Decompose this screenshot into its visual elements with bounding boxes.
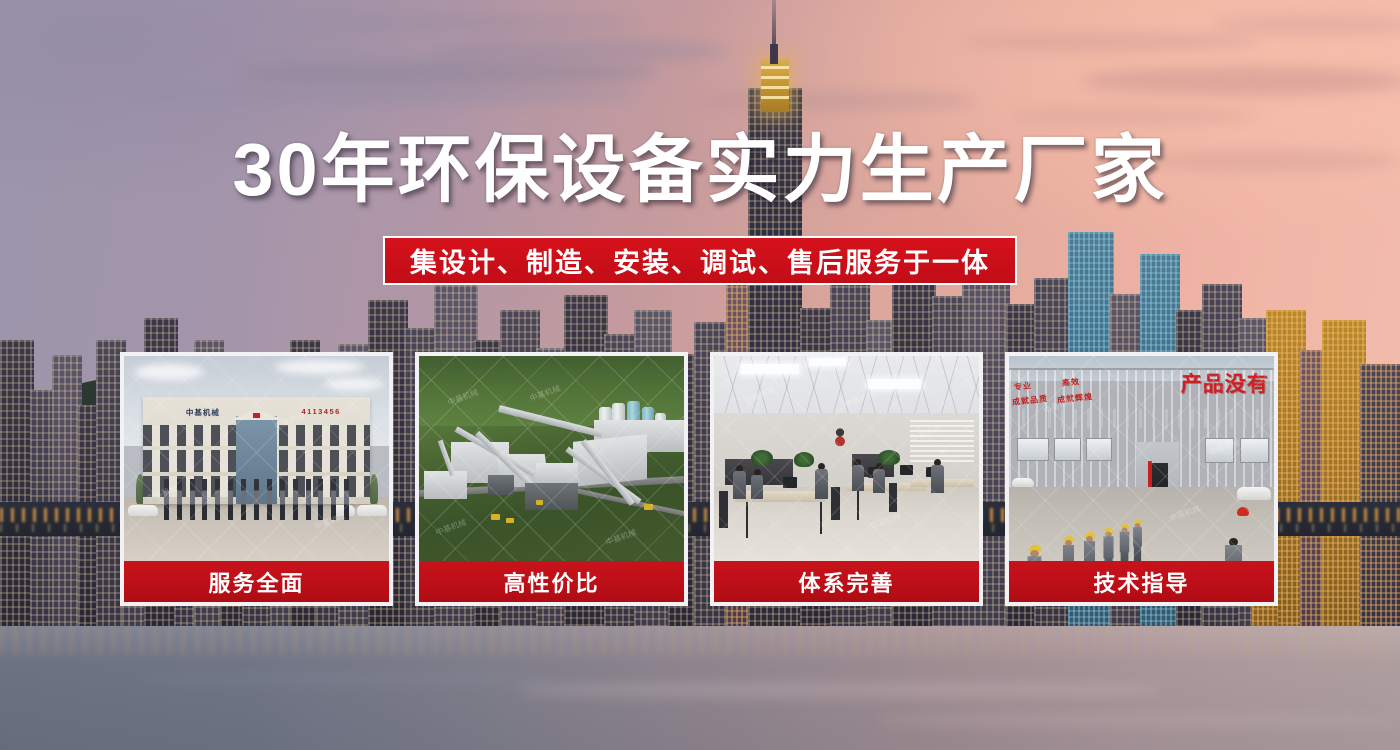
water-streak (520, 682, 1160, 698)
workers-training-photo: 产品没有 专业 成就品质 高效 成就辉煌 (1009, 356, 1274, 561)
subtitle-text: 集设计、制造、安装、调试、售后服务于一体 (410, 241, 990, 280)
banner-headline: 30年环保设备实力生产厂家 (0, 133, 1400, 207)
card-label-text: 高性价比 (503, 566, 599, 598)
card-label-text: 体系完善 (798, 566, 894, 598)
card-label: 服务全面 (124, 561, 389, 602)
water-streak (880, 714, 1400, 726)
feature-card-row: 中基机械 4113456 中基机械 中基机械 中基机械 服务全面 (120, 352, 1278, 606)
card-label: 技术指导 (1009, 561, 1274, 602)
banner-stage: 30年环保设备实力生产厂家 集设计、制造、安装、调试、售后服务于一体 (0, 0, 1400, 750)
card-label-text: 服务全面 (208, 566, 304, 598)
feature-card[interactable]: 中基机械 中基机械 中基机械 中基机械 体系完善 (710, 352, 983, 606)
card-label-text: 技术指导 (1093, 566, 1189, 598)
subtitle-banner: 集设计、制造、安装、调试、售后服务于一体 (383, 236, 1017, 285)
building (0, 340, 34, 640)
subtitle-red-bar: 集设计、制造、安装、调试、售后服务于一体 (385, 238, 1015, 283)
feature-card[interactable]: 中基机械 中基机械 中基机械 中基机械 高性价比 (415, 352, 688, 606)
photo-net-overlay (1009, 356, 1274, 561)
feature-card[interactable]: 产品没有 专业 成就品质 高效 成就辉煌 (1005, 352, 1278, 606)
water-streak (140, 674, 560, 684)
photo-net-overlay (124, 356, 389, 561)
card-label: 高性价比 (419, 561, 684, 602)
feature-card[interactable]: 中基机械 4113456 中基机械 中基机械 中基机械 服务全面 (120, 352, 393, 606)
company-headquarters-photo: 中基机械 4113456 中基机械 中基机械 中基机械 (124, 356, 389, 561)
office-interior-photo: 中基机械 中基机械 中基机械 中基机械 (714, 356, 979, 561)
aerial-plant-photo: 中基机械 中基机械 中基机械 中基机械 (419, 356, 684, 561)
card-label: 体系完善 (714, 561, 979, 602)
tower-crown-light (761, 60, 789, 112)
photo-net-overlay (714, 356, 979, 561)
tower-spire (772, 0, 776, 62)
